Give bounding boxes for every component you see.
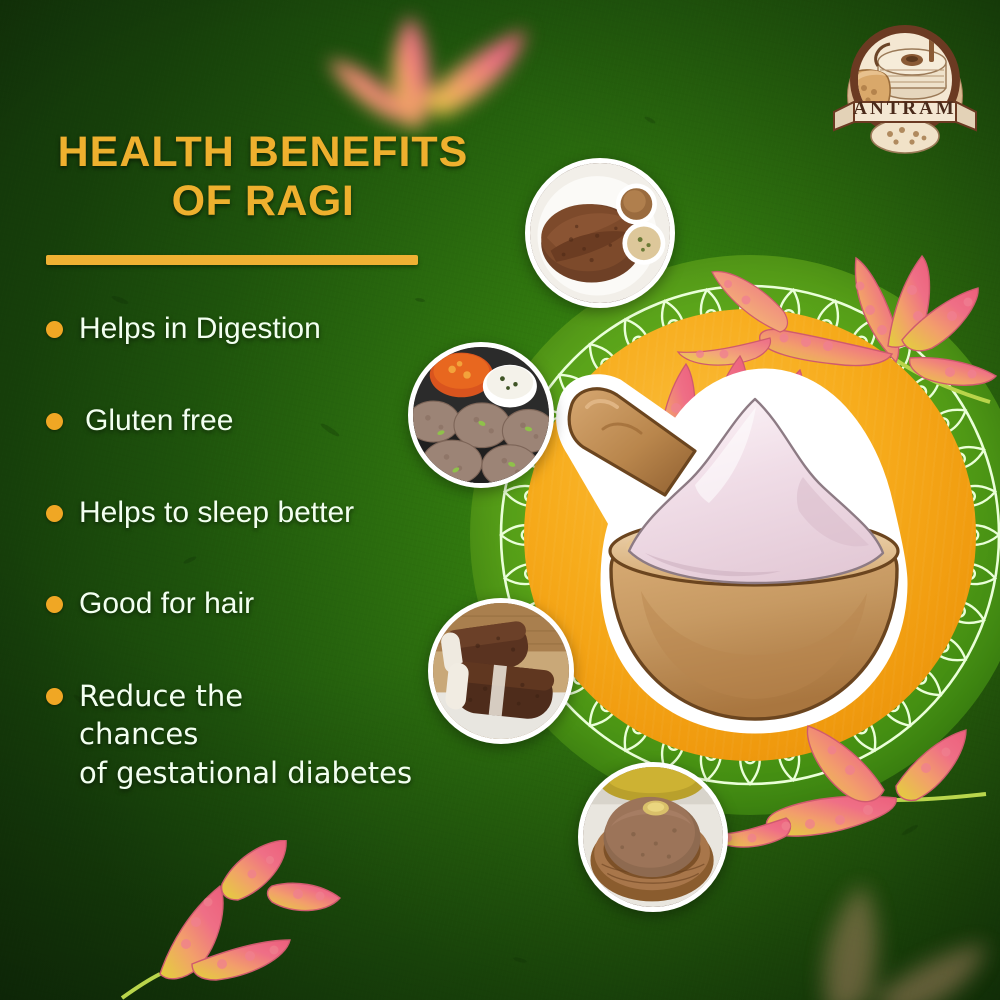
benefit-label: Gluten free <box>79 402 233 440</box>
benefits-list: Helps in Digestion Gluten free Helps to … <box>46 310 506 792</box>
brand-logo: ANTRAM <box>830 18 980 163</box>
benefit-item-sleep: Helps to sleep better <box>46 494 506 532</box>
benefit-label-line2: chances <box>79 717 198 751</box>
bullet-dot-icon <box>46 321 63 338</box>
millet-sprig-bottom-right-blurred <box>770 840 1000 1000</box>
photo-bubble-ragi-mudde <box>578 762 728 912</box>
page-title: HEALTH BENEFITS OF RAGI <box>28 128 498 226</box>
photo-bubble-ragi-dosa <box>525 158 675 308</box>
page-title-line1: HEALTH BENEFITS <box>28 128 498 177</box>
bullet-dot-icon <box>46 505 63 522</box>
benefit-item-gluten-free: Gluten free <box>46 402 506 440</box>
brand-logo-text: ANTRAM <box>830 98 980 120</box>
benefit-item-hair: Good for hair <box>46 585 506 623</box>
benefit-label: Helps in Digestion <box>79 310 321 348</box>
benefit-item-gestational-diabetes: Reduce the chances of gestational diabet… <box>46 677 506 792</box>
bullet-dot-icon <box>46 596 63 613</box>
benefit-label: Helps to sleep better <box>79 494 354 532</box>
bullet-dot-icon <box>46 413 63 430</box>
millet-sprig-top-blurred <box>290 0 550 140</box>
bullet-dot-icon <box>46 688 63 705</box>
benefit-label-line1: Reduce the <box>79 679 243 713</box>
title-underline-rule <box>46 255 418 265</box>
benefit-item-digestion: Helps in Digestion <box>46 310 506 348</box>
benefit-label-multiline: Reduce the chances of gestational diabet… <box>79 677 412 792</box>
millet-sprig-bottom-left <box>70 840 350 1000</box>
benefit-label-line3: of gestational diabetes <box>79 756 412 790</box>
benefit-label: Good for hair <box>79 585 254 623</box>
page-title-line2: OF RAGI <box>28 177 498 226</box>
poster-canvas: HEALTH BENEFITS OF RAGI Helps in Digesti… <box>0 0 1000 1000</box>
